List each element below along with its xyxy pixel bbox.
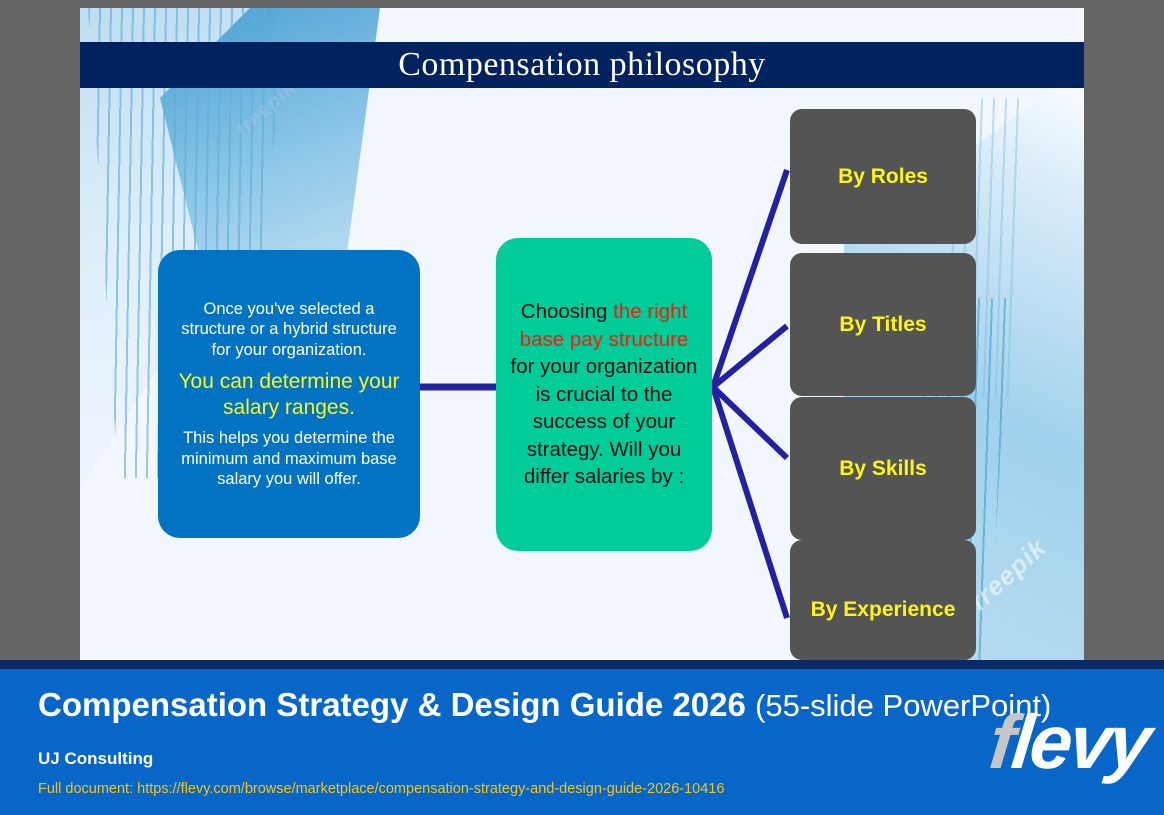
connector-center-to-roles [713, 170, 787, 387]
document-title-row: Compensation Strategy & Design Guide 202… [38, 686, 1051, 724]
option-label-by-skills: By Skills [839, 457, 927, 481]
center-question-box: Choosing the right base pay structure fo… [496, 238, 712, 551]
flevy-logo[interactable]: flevy [986, 705, 1152, 781]
option-label-by-roles: By Roles [838, 165, 928, 189]
banner-top-strip [0, 660, 1164, 669]
option-box-by-titles[interactable]: By Titles [790, 253, 976, 396]
option-box-by-roles[interactable]: By Roles [790, 109, 976, 244]
connector-center-to-skills [713, 387, 787, 458]
connector-center-to-titles [713, 326, 787, 387]
flevy-logo-levy: levy [1008, 700, 1153, 785]
center-box-text: Choosing the right base pay structure fo… [508, 298, 700, 491]
option-box-by-experience[interactable]: By Experience [790, 540, 976, 660]
flevy-promo-banner: Compensation Strategy & Design Guide 202… [0, 669, 1164, 815]
connector-center-to-experience [713, 387, 787, 618]
option-box-by-skills[interactable]: By Skills [790, 397, 976, 540]
slide-title: Compensation philosophy [398, 48, 766, 82]
option-label-by-titles: By Titles [839, 313, 926, 337]
full-document-link[interactable]: Full document: https://flevy.com/browse/… [38, 781, 724, 797]
center-text-part-1: Choosing [521, 300, 613, 323]
document-author: UJ Consulting [38, 749, 153, 769]
document-title: Compensation Strategy & Design Guide 202… [38, 686, 746, 723]
left-info-box: Once you've selected a structure or a hy… [158, 250, 420, 538]
option-label-by-experience: By Experience [811, 598, 956, 622]
left-box-line-3: This helps you determine the minimum and… [174, 428, 404, 490]
left-box-line-1: Once you've selected a structure or a hy… [174, 299, 404, 361]
center-text-part-2: for your organization is crucial to the … [511, 355, 698, 488]
slide-canvas: freepik freepik Compensation philosophy … [80, 8, 1084, 660]
slide-title-bar: Compensation philosophy [80, 42, 1084, 88]
left-box-line-2: You can determine your salary ranges. [174, 369, 404, 421]
